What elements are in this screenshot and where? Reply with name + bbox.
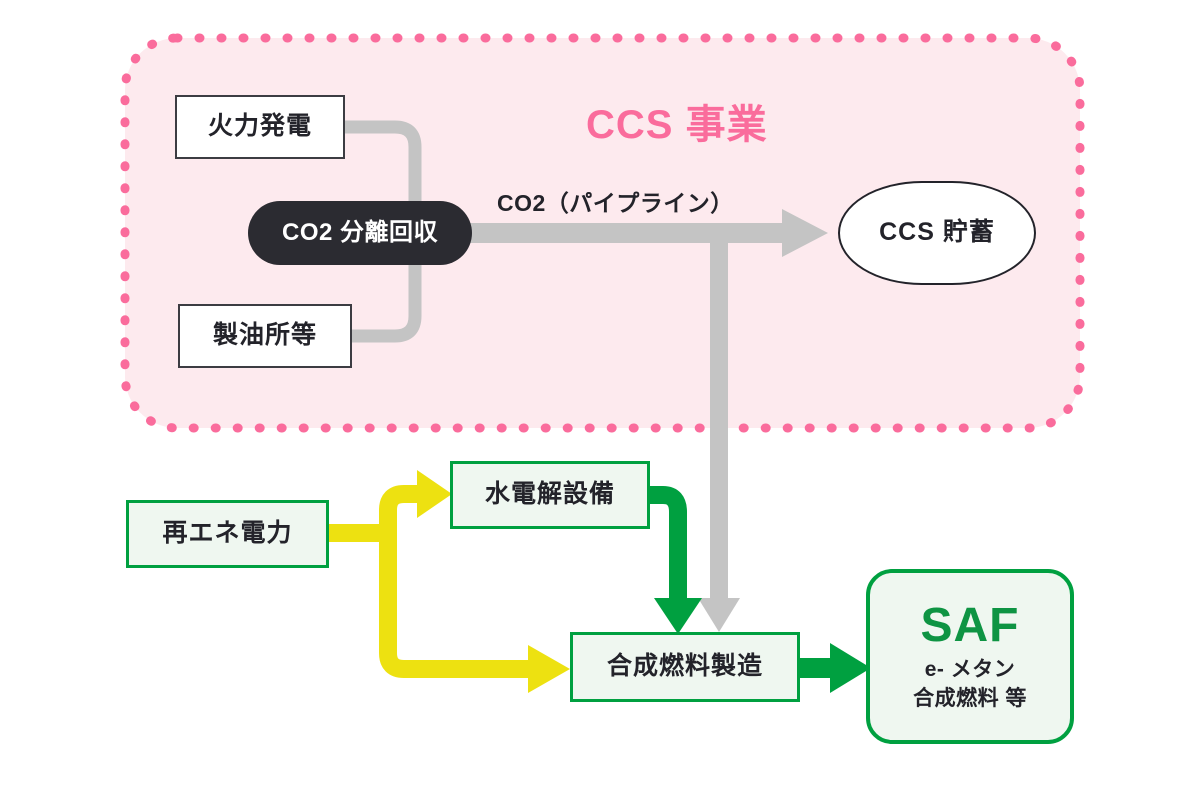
diagram-canvas: CCS 事業 火力発電 CO2 分離回収 製油所等 CO2（パイプライン） CC… <box>0 0 1200 794</box>
edge-capture-to-synfuel-arrowhead <box>698 598 740 632</box>
node-synfuel-production-label: 合成燃料製造 <box>607 651 763 682</box>
node-synfuel-production[interactable]: 合成燃料製造 <box>570 632 800 702</box>
node-electrolysis-label: 水電解設備 <box>485 479 615 510</box>
node-thermal-power[interactable]: 火力発電 <box>175 95 345 159</box>
node-refinery[interactable]: 製油所等 <box>178 304 352 368</box>
node-renewable-power-label: 再エネ電力 <box>162 518 292 549</box>
edge-synfuel-to-saf-arrowhead <box>830 643 871 693</box>
node-renewable-power[interactable]: 再エネ電力 <box>126 500 329 568</box>
node-saf-output[interactable]: SAF e- メタン 合成燃料 等 <box>866 569 1074 744</box>
edge-electrolysis-to-synfuel-shaft <box>650 495 678 598</box>
edge-electrolysis-to-synfuel-arrowhead <box>654 598 702 634</box>
node-co2-capture-label: CO2 分離回収 <box>282 218 438 248</box>
node-ccs-storage-label: CCS 貯蓄 <box>879 217 995 248</box>
node-saf-sublabel-1: e- メタン <box>925 657 1016 683</box>
node-saf-sublabel-2: 合成燃料 等 <box>913 686 1027 712</box>
edge-label-pipeline: CO2（パイプライン） <box>497 184 734 218</box>
edge-renewable-to-synfuel-arrowhead <box>528 645 570 693</box>
node-ccs-storage[interactable]: CCS 貯蓄 <box>838 181 1036 285</box>
ccs-region-title: CCS 事業 <box>586 92 768 150</box>
edge-renewable-to-synfuel-shaft <box>388 533 528 669</box>
node-thermal-power-label: 火力発電 <box>208 111 312 142</box>
node-co2-capture[interactable]: CO2 分離回収 <box>248 201 472 265</box>
edge-renewable-to-electrolysis-shaft <box>388 494 418 533</box>
edge-renewable-to-electrolysis-arrowhead <box>417 470 452 518</box>
node-electrolysis[interactable]: 水電解設備 <box>450 461 650 529</box>
node-refinery-label: 製油所等 <box>213 320 317 351</box>
node-saf-title: SAF <box>921 601 1020 651</box>
